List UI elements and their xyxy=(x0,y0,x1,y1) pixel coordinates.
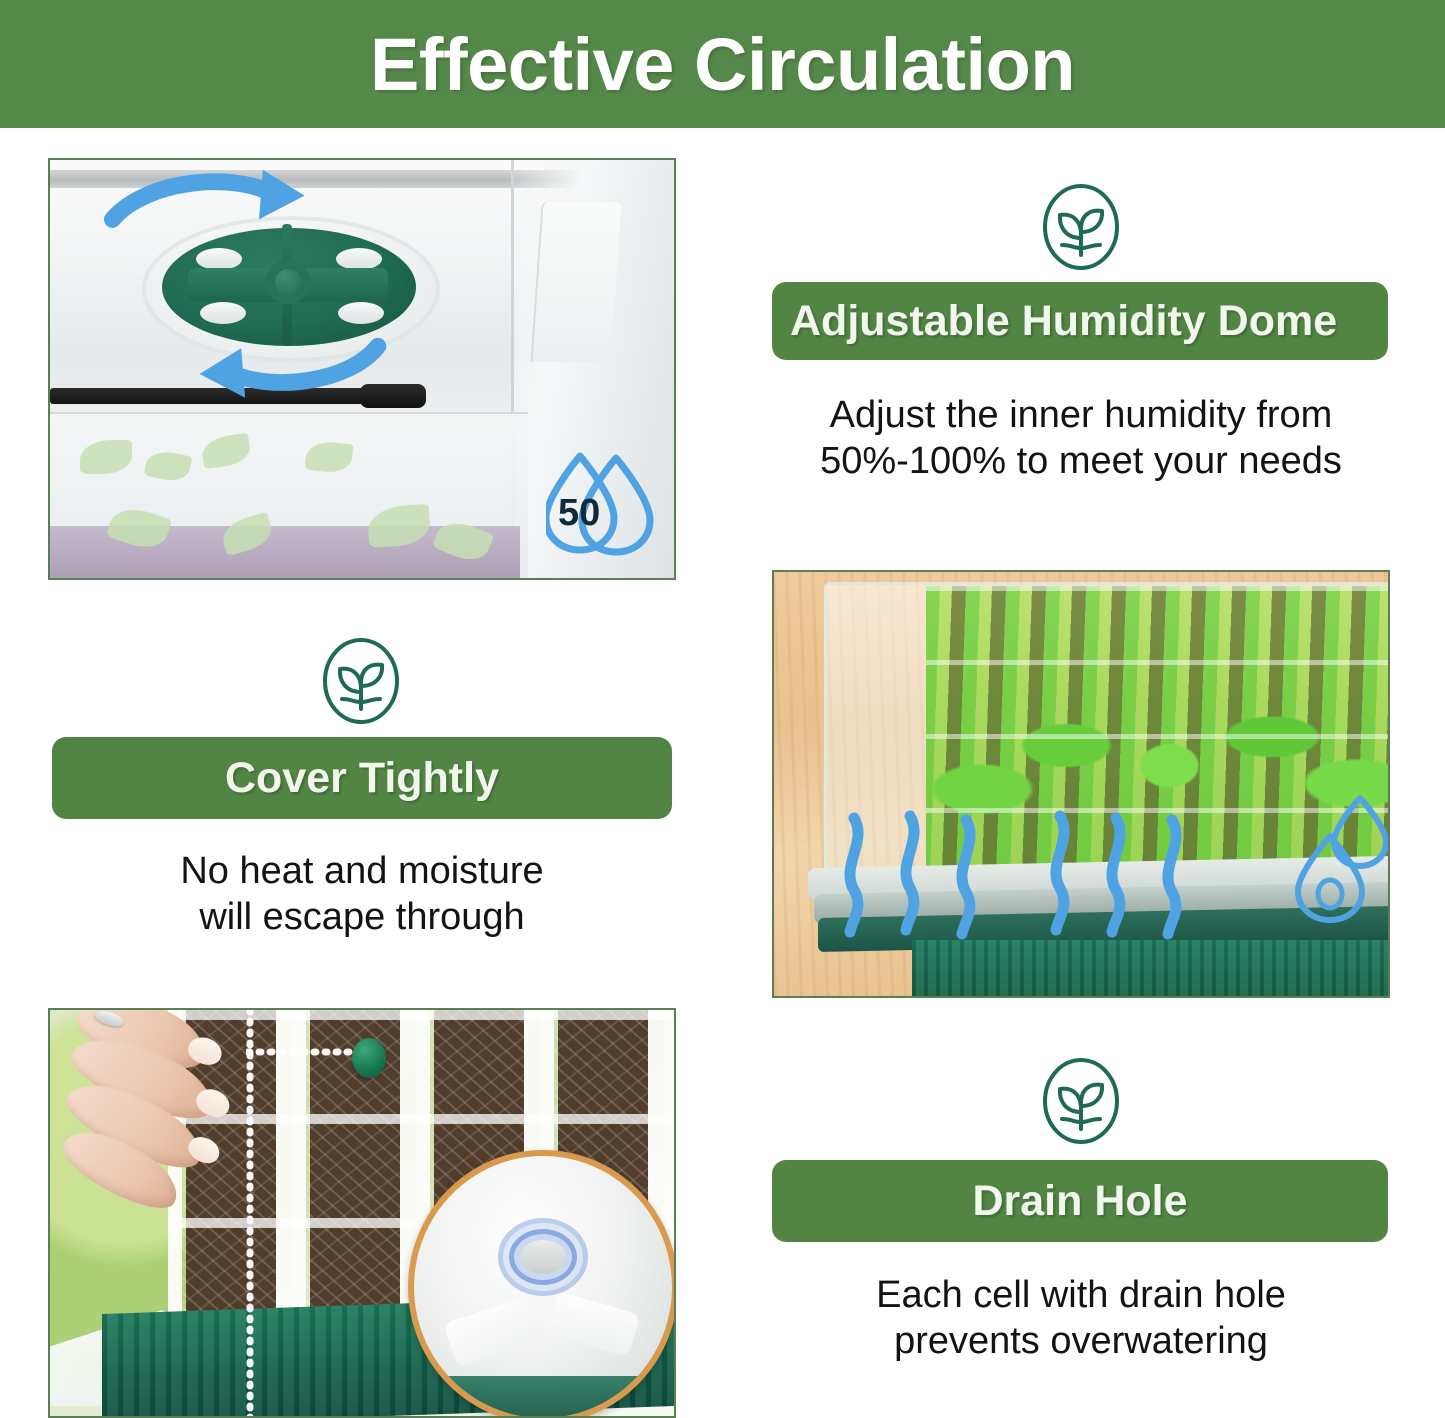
vent-hole xyxy=(200,302,246,324)
description-line: Adjust the inner humidity from xyxy=(772,392,1390,438)
dotted-guide-line xyxy=(230,1010,270,1418)
drain-hole-detail xyxy=(520,1240,566,1274)
feature-title-pill-drain-hole: Drain Hole xyxy=(772,1160,1388,1242)
feature-title-pill-adjustable-humidity-dome: Adjustable Humidity Dome xyxy=(772,282,1388,360)
vent-hole xyxy=(336,248,382,270)
steam-lines-icon xyxy=(834,810,1254,940)
seedling-leaf xyxy=(80,440,132,474)
description-line: 50%-100% to meet your needs xyxy=(772,438,1390,484)
cell-rib xyxy=(443,1295,547,1368)
description-line: will escape through xyxy=(52,894,672,940)
seedling-leaf xyxy=(200,433,252,469)
sprout-icon xyxy=(1040,1056,1122,1146)
dome-black-bar-cap xyxy=(360,384,426,408)
description-line: prevents overwatering xyxy=(772,1318,1390,1364)
header-banner: Effective Circulation xyxy=(0,0,1445,128)
seedling-leaf xyxy=(144,448,193,485)
feature-description-cover-tightly: No heat and moisture will escape through xyxy=(52,848,672,941)
humidity-value: 50 xyxy=(558,492,600,535)
description-line: Each cell with drain hole xyxy=(772,1272,1390,1318)
feature-title: Cover Tightly xyxy=(52,754,672,803)
magnifier-callout-icon xyxy=(408,1150,676,1418)
hand xyxy=(58,1008,258,1228)
dome-interior xyxy=(50,412,528,580)
vent-hole xyxy=(338,302,384,324)
dome-black-bar xyxy=(50,388,380,404)
green-marker-dot xyxy=(352,1038,386,1078)
photo-humidity-vent: 50 xyxy=(48,158,676,580)
tray-base xyxy=(912,940,1390,998)
vent-hole xyxy=(196,248,242,270)
callout-tray-edge xyxy=(408,1376,676,1418)
dome-right-notch xyxy=(530,202,621,362)
humidity-badge: 50 xyxy=(546,440,676,560)
feature-description-adjustable-humidity-dome: Adjust the inner humidity from 50%-100% … xyxy=(772,392,1390,485)
description-line: No heat and moisture xyxy=(52,848,672,894)
water-drop-outline-icon xyxy=(1294,790,1390,930)
sprout-icon xyxy=(320,636,402,726)
feature-title-pill-cover-tightly: Cover Tightly xyxy=(52,737,672,819)
photo-cell-tray-drain xyxy=(48,1008,676,1418)
feature-title: Drain Hole xyxy=(772,1177,1388,1226)
photo-seed-tray-dome xyxy=(772,570,1390,998)
page-title: Effective Circulation xyxy=(370,22,1075,107)
feature-description-drain-hole: Each cell with drain hole prevents overw… xyxy=(772,1272,1390,1365)
cell-rib xyxy=(546,1291,641,1357)
vent-knob-hub xyxy=(266,260,310,304)
sprout-icon xyxy=(1040,182,1122,272)
seedling-leaf xyxy=(305,440,354,475)
feature-title: Adjustable Humidity Dome xyxy=(772,297,1388,346)
